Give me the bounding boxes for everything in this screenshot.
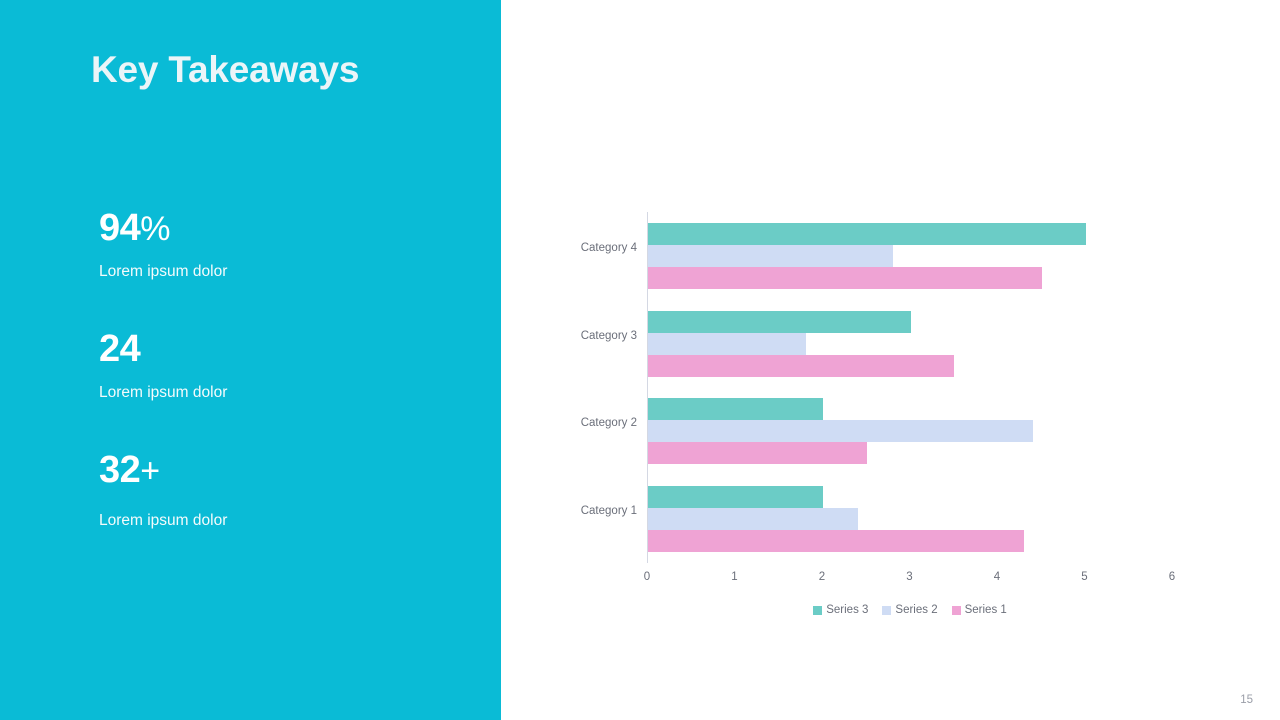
stat-suffix: + <box>140 452 160 490</box>
bar <box>648 508 858 530</box>
bar <box>648 420 1033 442</box>
slide: Key Takeaways 94% Lorem ipsum dolor 24 L… <box>0 0 1280 720</box>
bar <box>648 355 954 377</box>
x-tick-label: 6 <box>1169 571 1175 583</box>
bar <box>648 442 867 464</box>
stat-suffix: % <box>140 210 170 248</box>
legend-swatch-icon <box>882 606 891 615</box>
x-tick-label: 5 <box>1081 571 1087 583</box>
category-axis-label: Category 4 <box>581 242 637 254</box>
category-axis-label: Category 1 <box>581 505 637 517</box>
x-tick-label: 4 <box>994 571 1000 583</box>
bar-group: Category 2 <box>648 398 1173 464</box>
stat-label: Lorem ipsum dolor <box>99 263 227 281</box>
legend-swatch-icon <box>813 606 822 615</box>
bar-group: Category 4 <box>648 223 1173 289</box>
page-title: Key Takeaways <box>91 49 359 91</box>
stat-block-2: 24 Lorem ipsum dolor <box>99 330 227 402</box>
bar-group: Category 3 <box>648 311 1173 377</box>
stat-number: 94 <box>99 207 140 249</box>
stat-number: 24 <box>99 328 140 370</box>
bar <box>648 530 1024 552</box>
bar <box>648 267 1042 289</box>
legend-item[interactable]: Series 2 <box>882 604 937 616</box>
x-tick-label: 1 <box>731 571 737 583</box>
stat-value: 24 <box>99 330 227 368</box>
legend-label: Series 2 <box>895 604 937 616</box>
bar <box>648 333 806 355</box>
chart-legend: Series 3Series 2Series 1 <box>647 604 1173 616</box>
legend-label: Series 1 <box>965 604 1007 616</box>
legend-label: Series 3 <box>826 604 868 616</box>
bar-group: Category 1 <box>648 486 1173 552</box>
stat-number: 32 <box>99 449 140 491</box>
x-axis-tick-labels: 0123456 <box>647 571 1173 589</box>
stat-value: 32+ <box>99 451 227 489</box>
x-tick-label: 2 <box>819 571 825 583</box>
stat-label: Lorem ipsum dolor <box>99 512 227 530</box>
chart-region: Category 1Category 2Category 3Category 4… <box>501 0 1280 720</box>
page-number: 15 <box>1240 694 1253 706</box>
category-axis-label: Category 2 <box>581 417 637 429</box>
stat-block-1: 94% Lorem ipsum dolor <box>99 209 227 281</box>
bar <box>648 486 823 508</box>
legend-swatch-icon <box>952 606 961 615</box>
x-tick-label: 3 <box>906 571 912 583</box>
grouped-bar-chart: Category 1Category 2Category 3Category 4… <box>647 212 1173 563</box>
bar <box>648 245 893 267</box>
category-axis-label: Category 3 <box>581 330 637 342</box>
stat-value: 94% <box>99 209 227 247</box>
stat-label: Lorem ipsum dolor <box>99 384 227 402</box>
stat-block-3: 32+ Lorem ipsum dolor <box>99 451 227 530</box>
legend-item[interactable]: Series 1 <box>952 604 1007 616</box>
bar <box>648 311 911 333</box>
accent-sidebar: Key Takeaways 94% Lorem ipsum dolor 24 L… <box>0 0 501 720</box>
x-tick-label: 0 <box>644 571 650 583</box>
bar <box>648 223 1086 245</box>
legend-item[interactable]: Series 3 <box>813 604 868 616</box>
bar <box>648 398 823 420</box>
